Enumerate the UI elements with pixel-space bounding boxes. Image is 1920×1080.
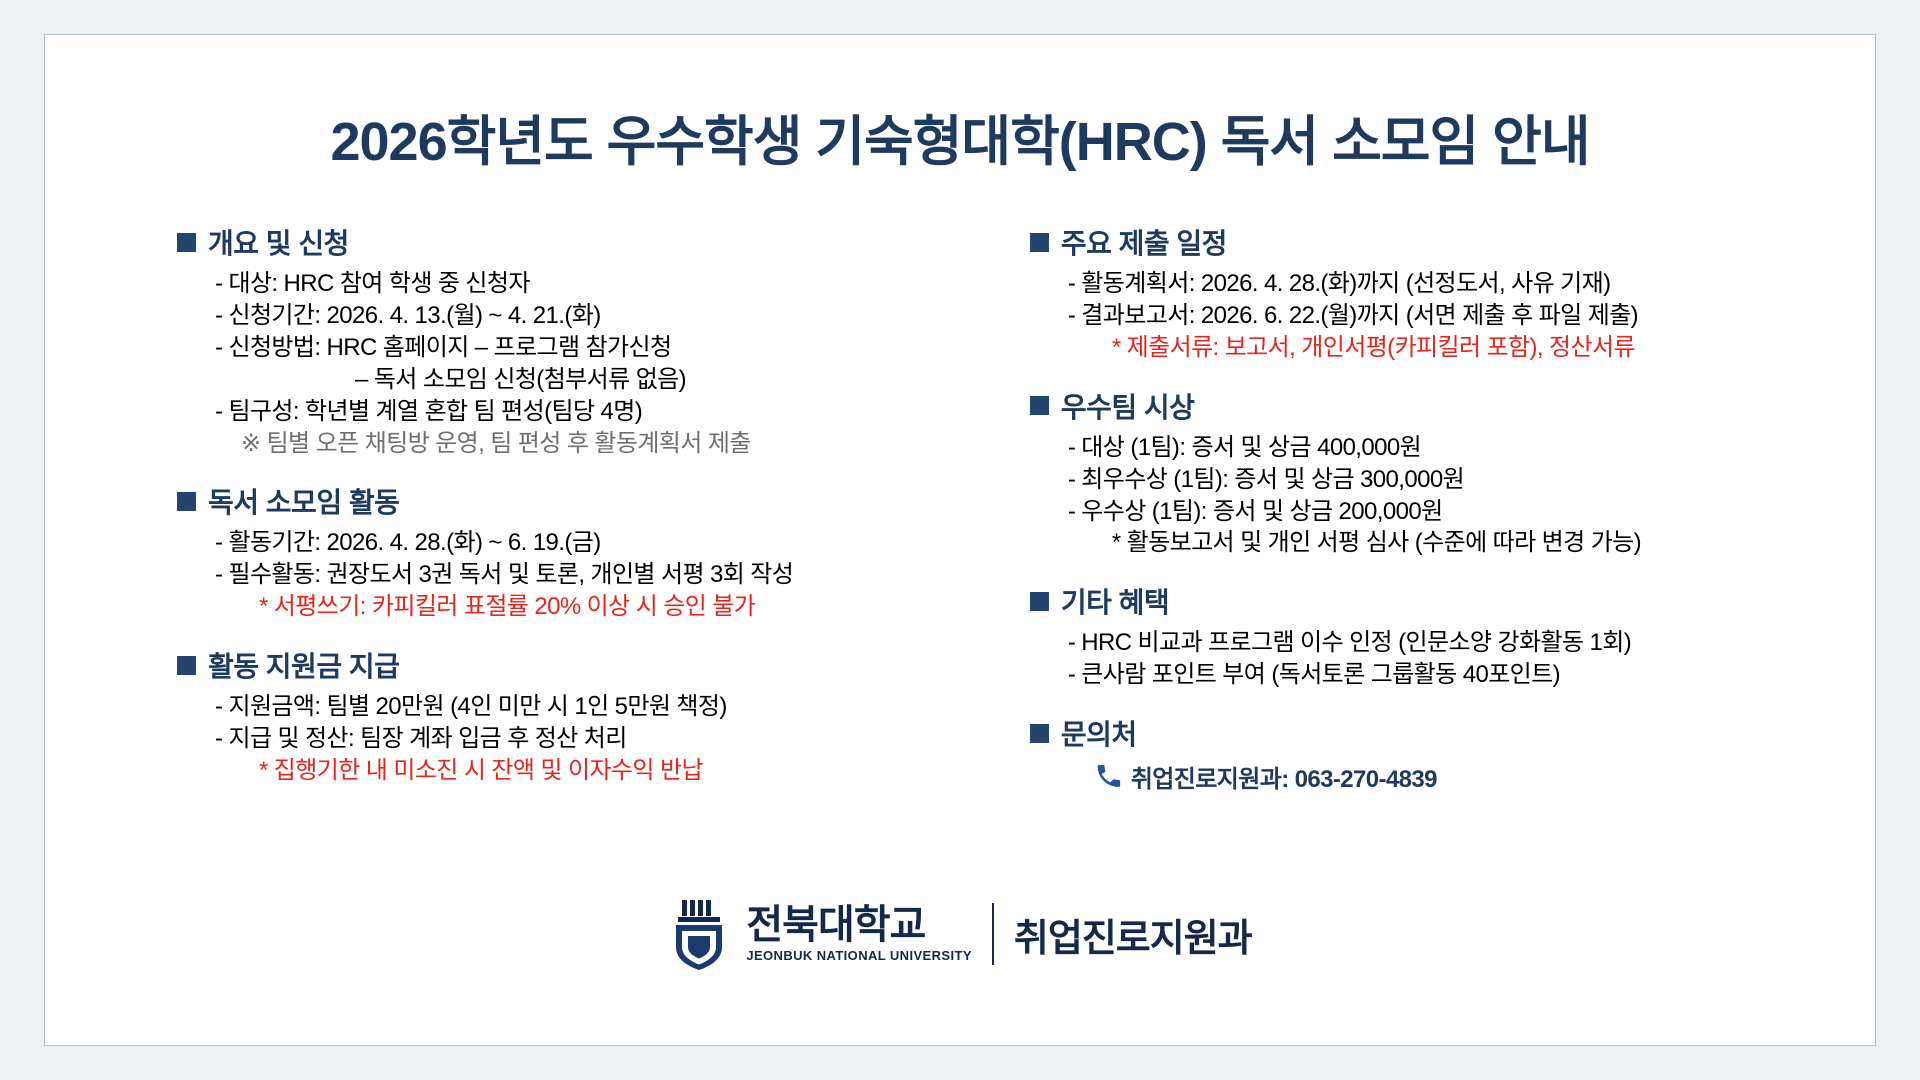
right-column: 주요 제출 일정 - 활동계획서: 2026. 4. 28.(화)까지 (선정도… — [1020, 222, 1815, 794]
square-bullet-icon — [177, 492, 196, 511]
section-heading: 주요 제출 일정 — [1030, 222, 1815, 262]
list-item-continuation: – 독서 소모임 신청(첨부서류 없음) — [215, 364, 1020, 396]
square-bullet-icon — [1030, 233, 1049, 252]
warning-line: * 서평쓰기: 카피킬러 표절률 20% 이상 시 승인 불가 — [215, 591, 1020, 623]
section-heading: 개요 및 신청 — [177, 222, 1020, 262]
list-item: - 결과보고서: 2026. 6. 22.(월)까지 (서면 제출 후 파일 제… — [1068, 300, 1815, 332]
university-name-ko: 전북대학교 — [746, 905, 972, 946]
list-item: - 신청기간: 2026. 4. 13.(월) ~ 4. 21.(화) — [215, 300, 1020, 332]
university-name-en: JEONBUK NATIONAL UNIVERSITY — [746, 948, 972, 963]
section-lines: - 지원금액: 팀별 20만원 (4인 미만 시 1인 5만원 책정) - 지급… — [177, 691, 1020, 787]
university-crest-icon — [668, 897, 730, 971]
section-heading-label: 문의처 — [1061, 713, 1137, 753]
list-item: - 필수활동: 권장도서 3권 독서 및 토론, 개인별 서평 3회 작성 — [215, 559, 1020, 591]
list-item: - 큰사람 포인트 부여 (독서토론 그룹활동 40포인트) — [1068, 659, 1815, 691]
poster-page: 2026학년도 우수학생 기숙형대학(HRC) 독서 소모임 안내 개요 및 신… — [44, 34, 1876, 1046]
content-columns: 개요 및 신청 - 대상: HRC 참여 학생 중 신청자 - 신청기간: 20… — [45, 222, 1875, 794]
contact-text: 취업진로지원과: 063-270-4839 — [1131, 759, 1437, 794]
section-heading: 우수팀 시상 — [1030, 386, 1815, 426]
section-activity-funding: 활동 지원금 지급 - 지원금액: 팀별 20만원 (4인 미만 시 1인 5만… — [177, 645, 1020, 787]
warning-line: * 제출서류: 보고서, 개인서평(카피킬러 포함), 정산서류 — [1068, 332, 1815, 364]
page-title: 2026학년도 우수학생 기숙형대학(HRC) 독서 소모임 안내 — [45, 97, 1875, 176]
section-other-benefits: 기타 혜택 - HRC 비교과 프로그램 이수 인정 (인문소양 강화활동 1회… — [1030, 581, 1815, 691]
note-line: * 활동보고서 및 개인 서평 심사 (수준에 따라 변경 가능) — [1068, 527, 1815, 559]
university-name-block: 전북대학교 JEONBUK NATIONAL UNIVERSITY — [746, 905, 972, 964]
section-awards: 우수팀 시상 - 대상 (1팀): 증서 및 상금 400,000원 - 최우수… — [1030, 386, 1815, 560]
list-item: - HRC 비교과 프로그램 이수 인정 (인문소양 강화활동 1회) — [1068, 627, 1815, 659]
footer-logo: 전북대학교 JEONBUK NATIONAL UNIVERSITY 취업진로지원… — [45, 897, 1875, 971]
section-heading: 활동 지원금 지급 — [177, 645, 1020, 685]
list-item: - 신청방법: HRC 홈페이지 – 프로그램 참가신청 — [215, 332, 1020, 364]
square-bullet-icon — [177, 656, 196, 675]
list-item: - 팀구성: 학년별 계열 혼합 팀 편성(팀당 4명) — [215, 396, 1020, 428]
square-bullet-icon — [1030, 724, 1049, 743]
section-overview-application: 개요 및 신청 - 대상: HRC 참여 학생 중 신청자 - 신청기간: 20… — [177, 222, 1020, 459]
section-heading: 독서 소모임 활동 — [177, 481, 1020, 521]
section-heading-label: 독서 소모임 활동 — [208, 481, 399, 521]
section-reading-group-activity: 독서 소모임 활동 - 활동기간: 2026. 4. 28.(화) ~ 6. 1… — [177, 481, 1020, 623]
section-contact: 문의처 취업진로지원과: 063-270-4839 — [1030, 713, 1815, 794]
square-bullet-icon — [1030, 396, 1049, 415]
square-bullet-icon — [1030, 592, 1049, 611]
list-item: - 우수상 (1팀): 증서 및 상금 200,000원 — [1068, 496, 1815, 528]
list-item: - 대상: HRC 참여 학생 중 신청자 — [215, 268, 1020, 300]
section-lines: - 대상: HRC 참여 학생 중 신청자 - 신청기간: 2026. 4. 1… — [177, 268, 1020, 459]
section-heading: 문의처 — [1030, 713, 1815, 753]
list-item: - 지급 및 정산: 팀장 계좌 입금 후 정산 처리 — [215, 723, 1020, 755]
section-lines: - 활동기간: 2026. 4. 28.(화) ~ 6. 19.(금) - 필수… — [177, 527, 1020, 623]
section-heading-label: 활동 지원금 지급 — [208, 645, 399, 685]
section-heading-label: 우수팀 시상 — [1061, 386, 1195, 426]
list-item: - 활동계획서: 2026. 4. 28.(화)까지 (선정도서, 사유 기재) — [1068, 268, 1815, 300]
note-line: ※ 팀별 오픈 채팅방 운영, 팀 편성 후 활동계획서 제출 — [215, 428, 1020, 460]
section-heading-label: 주요 제출 일정 — [1061, 222, 1227, 262]
list-item: - 지원금액: 팀별 20만원 (4인 미만 시 1인 5만원 책정) — [215, 691, 1020, 723]
section-heading-label: 개요 및 신청 — [208, 222, 349, 262]
list-item: - 최우수상 (1팀): 증서 및 상금 300,000원 — [1068, 464, 1815, 496]
list-item: - 대상 (1팀): 증서 및 상금 400,000원 — [1068, 432, 1815, 464]
section-lines: - HRC 비교과 프로그램 이수 인정 (인문소양 강화활동 1회) - 큰사… — [1030, 627, 1815, 691]
section-submission-schedule: 주요 제출 일정 - 활동계획서: 2026. 4. 28.(화)까지 (선정도… — [1030, 222, 1815, 364]
square-bullet-icon — [177, 233, 196, 252]
section-lines: - 활동계획서: 2026. 4. 28.(화)까지 (선정도서, 사유 기재)… — [1030, 268, 1815, 364]
section-heading: 기타 혜택 — [1030, 581, 1815, 621]
contact-row: 취업진로지원과: 063-270-4839 — [1030, 759, 1815, 794]
section-heading-label: 기타 혜택 — [1061, 581, 1169, 621]
warning-line: * 집행기한 내 미소진 시 잔액 및 이자수익 반납 — [215, 755, 1020, 787]
phone-icon — [1096, 764, 1122, 790]
section-lines: - 대상 (1팀): 증서 및 상금 400,000원 - 최우수상 (1팀):… — [1030, 432, 1815, 560]
left-column: 개요 및 신청 - 대상: HRC 참여 학생 중 신청자 - 신청기간: 20… — [105, 222, 1020, 794]
department-name: 취업진로지원과 — [1014, 907, 1252, 962]
logo-divider — [992, 903, 994, 965]
list-item: - 활동기간: 2026. 4. 28.(화) ~ 6. 19.(금) — [215, 527, 1020, 559]
